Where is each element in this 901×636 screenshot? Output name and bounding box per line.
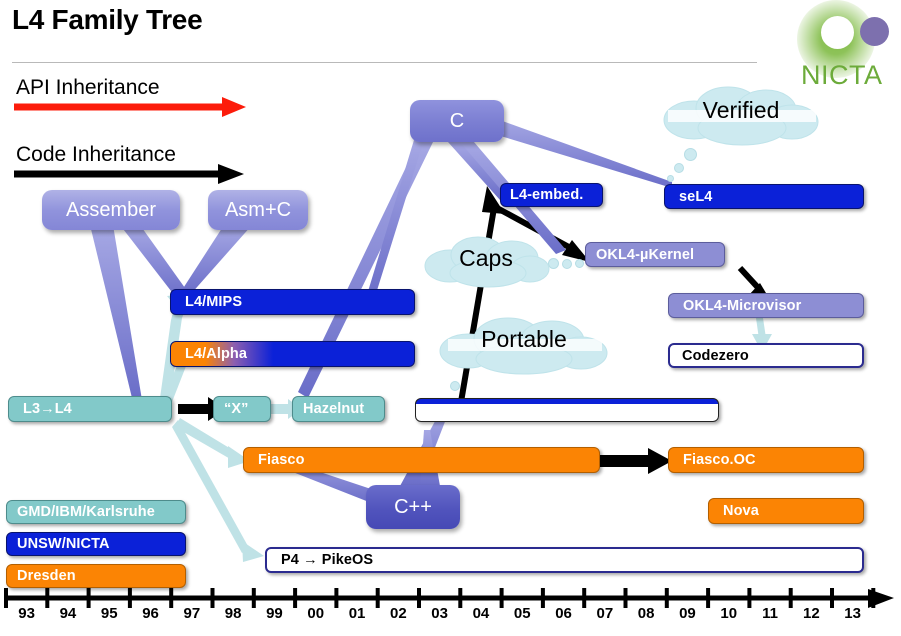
bar-codezero[interactable]: Codezero: [668, 343, 864, 368]
timeline-tick-label: 99: [260, 605, 288, 622]
bar-nova[interactable]: Nova: [708, 498, 864, 524]
bar-l4-alpha-label: L4/Alpha: [185, 346, 247, 362]
cloud-dot: [667, 175, 674, 182]
timeline-tick-label: 96: [137, 605, 165, 622]
bar-okl4-microvisor-label: OKL4-Microvisor: [683, 298, 801, 314]
timeline-tick-label: 94: [54, 605, 82, 622]
callout-c-label: C: [450, 110, 464, 133]
cloud-dot: [562, 259, 572, 269]
bar-fiasco[interactable]: Fiasco: [243, 447, 600, 473]
bar-p4-pikeos-label: P4 → PikeOS: [281, 552, 373, 568]
cloud-portable: Portable: [436, 315, 612, 375]
bar-fiasco-oc-label: Fiasco.OC: [683, 452, 756, 468]
bar-l4-mips[interactable]: L4/MIPS: [170, 289, 415, 315]
callout-asm-c-label: Asm+C: [225, 199, 291, 222]
timeline-tick-label: 12: [797, 605, 825, 622]
legend-box-gmd-label: GMD/IBM/Karlsruhe: [17, 504, 155, 520]
cloud-caps: Caps: [422, 234, 550, 288]
timeline-tick-label: 98: [219, 605, 247, 622]
timeline-tick-label: 97: [178, 605, 206, 622]
bar-okl4-ukernel[interactable]: OKL4-µKernel: [585, 242, 725, 267]
timeline-tick-label: 11: [756, 605, 784, 622]
bar-x[interactable]: “X”: [213, 396, 271, 422]
bar-x-label: “X”: [224, 401, 248, 417]
bar-l4-mips-label: L4/MIPS: [185, 294, 242, 310]
bar-nova-label: Nova: [723, 503, 759, 519]
cloud-dot: [674, 163, 684, 173]
bar-l4-alpha[interactable]: L4/Alpha: [170, 341, 415, 367]
timeline-tick-label: 95: [95, 605, 123, 622]
bar-fiasco-label: Fiasco: [258, 452, 305, 468]
bar-sel4[interactable]: seL4: [664, 184, 864, 209]
bar-okl4-microvisor[interactable]: OKL4-Microvisor: [668, 293, 864, 318]
timeline-tick-label: 09: [673, 605, 701, 622]
cloud-verified: Verified: [658, 84, 824, 146]
timeline-tick-label: 10: [715, 605, 743, 622]
timeline-tick-label: 02: [384, 605, 412, 622]
legend-box-unsw-nicta[interactable]: UNSW/NICTA: [6, 532, 186, 556]
bar-l3-l4-label: L3→L4: [23, 401, 72, 417]
timeline-tick-label: 93: [13, 605, 41, 622]
legend-box-unsw-label: UNSW/NICTA: [17, 536, 110, 552]
callout-asm-c[interactable]: Asm+C: [208, 190, 308, 230]
timeline-axis: 9394959697989900010203040506070809101112…: [0, 586, 901, 631]
callout-assember[interactable]: Assember: [42, 190, 180, 230]
cloud-dot: [575, 259, 584, 268]
bar-sel4-label: seL4: [679, 189, 712, 205]
legend-box-dresden[interactable]: Dresden: [6, 564, 186, 588]
cloud-dot: [684, 148, 697, 161]
timeline-tick-label: 08: [632, 605, 660, 622]
timeline-tick-label: 05: [508, 605, 536, 622]
timeline-tick-label: 00: [302, 605, 330, 622]
bar-okl4-ukernel-label: OKL4-µKernel: [596, 247, 694, 263]
bar-pistachio[interactable]: [415, 398, 719, 422]
timeline-tick-label: 04: [467, 605, 495, 622]
cloud-dot: [450, 381, 460, 391]
timeline-tick-label: 06: [550, 605, 578, 622]
bar-fiasco-oc[interactable]: Fiasco.OC: [668, 447, 864, 473]
legend-box-gmd-ibm-karlsruhe[interactable]: GMD/IBM/Karlsruhe: [6, 500, 186, 524]
callout-cpp-label: C++: [394, 496, 432, 519]
timeline-tick-label: 13: [839, 605, 867, 622]
callout-assember-label: Assember: [66, 199, 156, 222]
bar-l4-embed-label: L4-embed.: [510, 187, 583, 203]
cloud-caps-label: Caps: [422, 245, 550, 272]
timeline-tick-label: 03: [426, 605, 454, 622]
bar-p4-pikeos[interactable]: P4 → PikeOS: [265, 547, 864, 573]
timeline-tick-label: 07: [591, 605, 619, 622]
bar-l4-embed[interactable]: L4-embed.: [500, 183, 603, 207]
callout-cpp[interactable]: C++: [366, 485, 460, 529]
slide-canvas: L4 Family Tree NICTA API Inheritance Cod…: [0, 0, 901, 631]
cloud-portable-label: Portable: [436, 326, 612, 353]
bar-hazelnut[interactable]: Hazelnut: [292, 396, 385, 422]
timeline-tick-label: 01: [343, 605, 371, 622]
bar-hazelnut-label: Hazelnut: [303, 401, 364, 417]
legend-box-dresden-label: Dresden: [17, 568, 76, 584]
bar-codezero-label: Codezero: [682, 348, 749, 364]
callout-c[interactable]: C: [410, 100, 504, 142]
bar-l3-l4[interactable]: L3→L4: [8, 396, 172, 422]
cloud-verified-label: Verified: [658, 97, 824, 124]
